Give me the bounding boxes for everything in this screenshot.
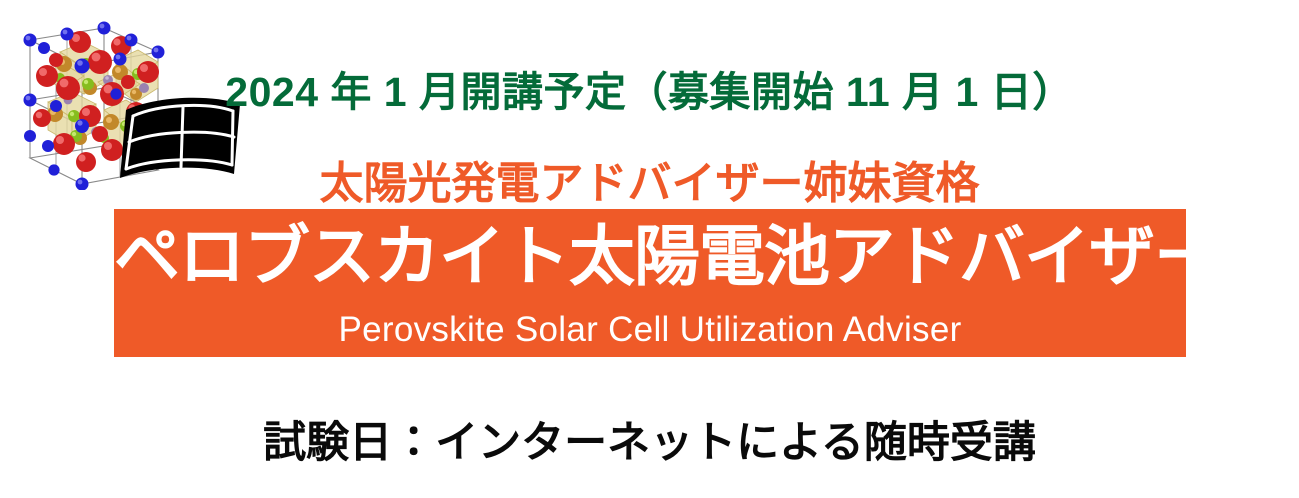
sister-qualification-text: 太陽光発電アドバイザー姉妹資格 bbox=[0, 147, 1299, 211]
exam-date-text: 試験日：インターネットによる随時受講 bbox=[0, 408, 1299, 470]
certification-title-banner: ペロブスカイト太陽電池アドバイザー Perovskite Solar Cell … bbox=[114, 209, 1186, 357]
certification-title-japanese: ペロブスカイト太陽電池アドバイザー bbox=[114, 219, 1186, 295]
course-schedule-text: 2024 年 1 月開講予定（募集開始 11 月 1 日） bbox=[0, 58, 1299, 118]
poster-canvas: 2024 年 1 月開講予定（募集開始 11 月 1 日） 太陽光発電アドバイザ… bbox=[0, 0, 1299, 498]
certification-title-english: Perovskite Solar Cell Utilization Advise… bbox=[114, 310, 1186, 350]
